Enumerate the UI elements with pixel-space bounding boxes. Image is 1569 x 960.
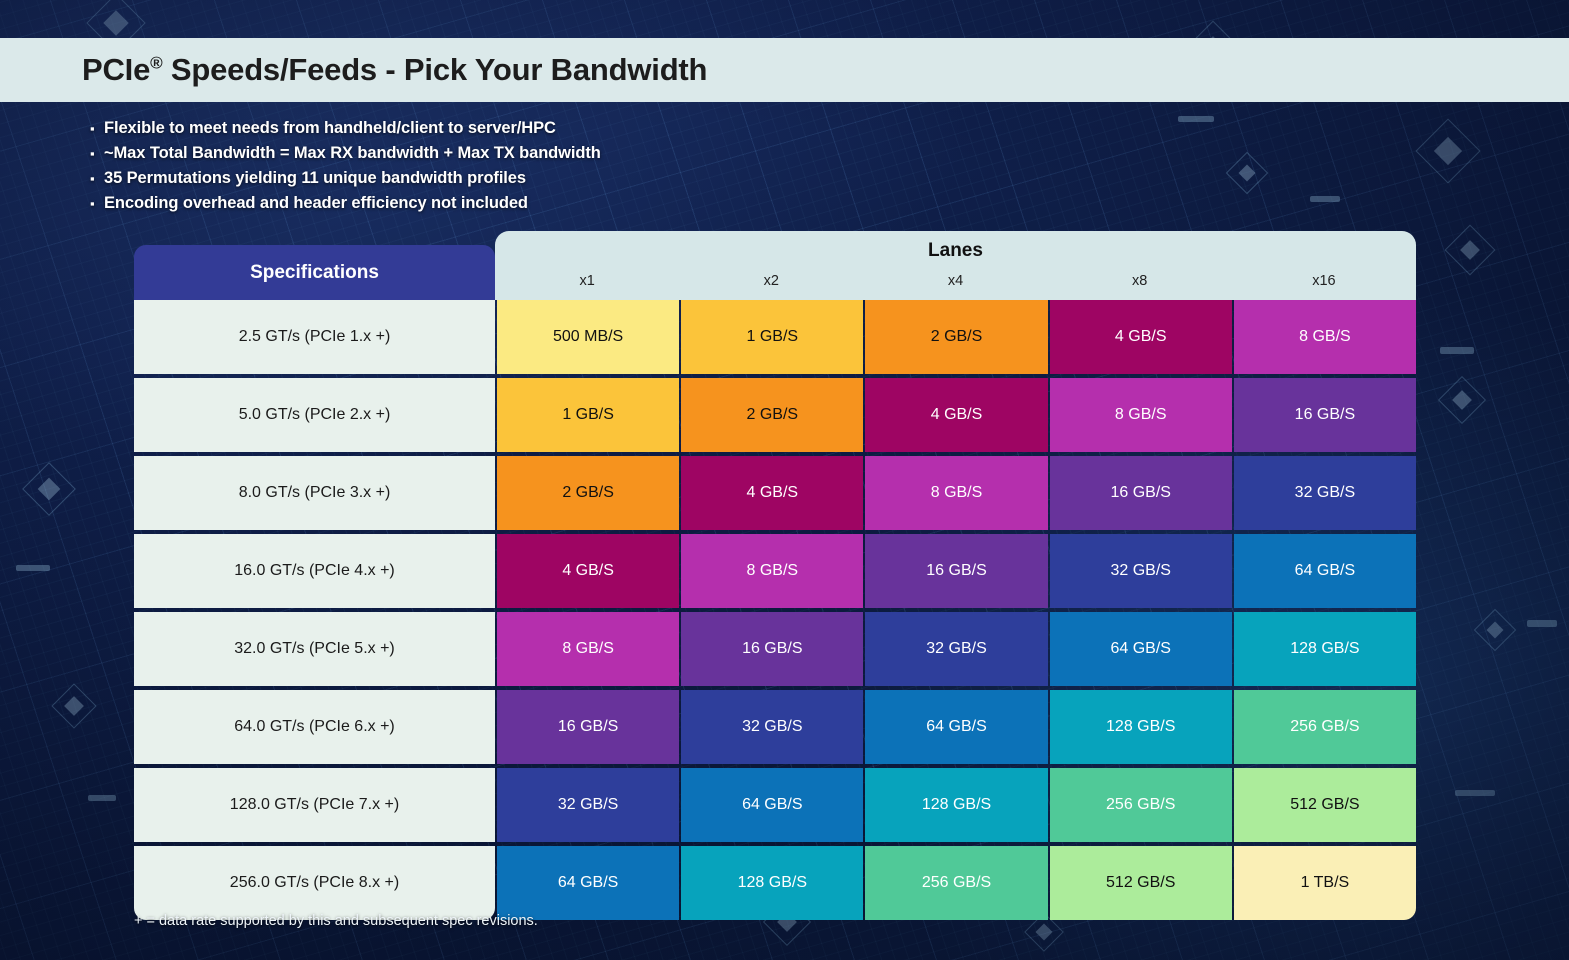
bullet-square-icon: ▪ [90,191,104,216]
table-row: 5.0 GT/s (PCIe 2.x +)1 GB/S2 GB/S4 GB/S8… [134,378,1416,452]
table-row: 256.0 GT/s (PCIe 8.x +)64 GB/S128 GB/S25… [134,846,1416,920]
table-row: 64.0 GT/s (PCIe 6.x +)16 GB/S32 GB/S64 G… [134,690,1416,764]
bandwidth-cell-x16: 128 GB/S [1234,612,1416,686]
page-title-prefix: PCIe [82,52,150,87]
list-item: ▪ Encoding overhead and header efficienc… [90,191,601,216]
bandwidth-cell-x8: 16 GB/S [1050,456,1232,530]
bandwidth-cell-x8: 256 GB/S [1050,768,1232,842]
bandwidth-cell-x1: 32 GB/S [497,768,679,842]
bandwidth-cell-x4: 16 GB/S [865,534,1047,608]
column-header-x4: x4 [863,273,1047,289]
bandwidth-cell-x16: 256 GB/S [1234,690,1416,764]
spec-cell: 16.0 GT/s (PCIe 4.x +) [134,534,495,608]
bandwidth-cell-x2: 2 GB/S [681,378,863,452]
table-row: 8.0 GT/s (PCIe 3.x +)2 GB/S4 GB/S8 GB/S1… [134,456,1416,530]
list-item: ▪ 35 Permutations yielding 11 unique ban… [90,166,601,191]
lane-label-row: x1 x2 x4 x8 x16 [495,273,1416,289]
bullet-square-icon: ▪ [90,141,104,166]
bandwidth-cell-x1: 2 GB/S [497,456,679,530]
bandwidth-cell-x2: 8 GB/S [681,534,863,608]
column-header-x8: x8 [1048,273,1232,289]
lanes-header: Lanes x1 x2 x4 x8 x16 [495,231,1416,300]
bandwidth-cell-x16: 1 TB/S [1234,846,1416,920]
spec-cell: 5.0 GT/s (PCIe 2.x +) [134,378,495,452]
bandwidth-cell-x1: 1 GB/S [497,378,679,452]
spec-cell: 128.0 GT/s (PCIe 7.x +) [134,768,495,842]
bullet-list: ▪ Flexible to meet needs from handheld/c… [90,116,601,216]
bandwidth-cell-x8: 64 GB/S [1050,612,1232,686]
bandwidth-cell-x4: 32 GB/S [865,612,1047,686]
table-row: 32.0 GT/s (PCIe 5.x +)8 GB/S16 GB/S32 GB… [134,612,1416,686]
table-row: 2.5 GT/s (PCIe 1.x +)500 MB/S1 GB/S2 GB/… [134,300,1416,374]
list-item: ▪ Flexible to meet needs from handheld/c… [90,116,601,141]
bandwidth-cell-x2: 64 GB/S [681,768,863,842]
bandwidth-cell-x4: 128 GB/S [865,768,1047,842]
bandwidth-cell-x4: 4 GB/S [865,378,1047,452]
bandwidth-cell-x16: 8 GB/S [1234,300,1416,374]
spec-cell: 64.0 GT/s (PCIe 6.x +) [134,690,495,764]
bandwidth-cell-x8: 4 GB/S [1050,300,1232,374]
lanes-header-label: Lanes [495,240,1416,262]
bandwidth-cell-x1: 500 MB/S [497,300,679,374]
list-item: ▪ ~Max Total Bandwidth = Max RX bandwidt… [90,141,601,166]
bandwidth-cell-x8: 512 GB/S [1050,846,1232,920]
spec-cell: 256.0 GT/s (PCIe 8.x +) [134,846,495,920]
bullet-square-icon: ▪ [90,166,104,191]
table-body: 2.5 GT/s (PCIe 1.x +)500 MB/S1 GB/S2 GB/… [134,300,1416,920]
spec-cell: 32.0 GT/s (PCIe 5.x +) [134,612,495,686]
table-row: 128.0 GT/s (PCIe 7.x +)32 GB/S64 GB/S128… [134,768,1416,842]
bandwidth-cell-x1: 64 GB/S [497,846,679,920]
bandwidth-cell-x4: 64 GB/S [865,690,1047,764]
bandwidth-cell-x16: 512 GB/S [1234,768,1416,842]
bandwidth-cell-x2: 32 GB/S [681,690,863,764]
page-title-rest: Speeds/Feeds - Pick Your Bandwidth [162,52,707,87]
bandwidth-cell-x8: 128 GB/S [1050,690,1232,764]
bandwidth-cell-x4: 2 GB/S [865,300,1047,374]
bandwidth-cell-x8: 8 GB/S [1050,378,1232,452]
bandwidth-cell-x2: 128 GB/S [681,846,863,920]
bandwidth-cell-x1: 16 GB/S [497,690,679,764]
specifications-header-label: Specifications [250,262,379,284]
bullet-square-icon: ▪ [90,116,104,141]
column-header-x1: x1 [495,273,679,289]
list-item-label: Flexible to meet needs from handheld/cli… [104,116,556,141]
bandwidth-cell-x16: 16 GB/S [1234,378,1416,452]
bandwidth-cell-x16: 32 GB/S [1234,456,1416,530]
bandwidth-cell-x1: 4 GB/S [497,534,679,608]
bandwidth-cell-x2: 4 GB/S [681,456,863,530]
bandwidth-cell-x4: 8 GB/S [865,456,1047,530]
bandwidth-cell-x8: 32 GB/S [1050,534,1232,608]
bandwidth-cell-x16: 64 GB/S [1234,534,1416,608]
title-band: PCIe® Speeds/Feeds - Pick Your Bandwidth [0,38,1569,102]
column-header-x16: x16 [1232,273,1416,289]
list-item-label: 35 Permutations yielding 11 unique bandw… [104,166,526,191]
bandwidth-cell-x2: 1 GB/S [681,300,863,374]
registered-trademark-icon: ® [150,54,162,73]
bandwidth-cell-x2: 16 GB/S [681,612,863,686]
spec-cell: 2.5 GT/s (PCIe 1.x +) [134,300,495,374]
list-item-label: ~Max Total Bandwidth = Max RX bandwidth … [104,141,601,166]
spec-cell: 8.0 GT/s (PCIe 3.x +) [134,456,495,530]
bandwidth-cell-x1: 8 GB/S [497,612,679,686]
bandwidth-cell-x4: 256 GB/S [865,846,1047,920]
list-item-label: Encoding overhead and header efficiency … [104,191,528,216]
page-title: PCIe® Speeds/Feeds - Pick Your Bandwidth [82,52,707,88]
footnote: + = data rate supported by this and subs… [134,913,538,929]
specifications-header: Specifications [134,245,495,300]
column-header-x2: x2 [679,273,863,289]
table-row: 16.0 GT/s (PCIe 4.x +)4 GB/S8 GB/S16 GB/… [134,534,1416,608]
